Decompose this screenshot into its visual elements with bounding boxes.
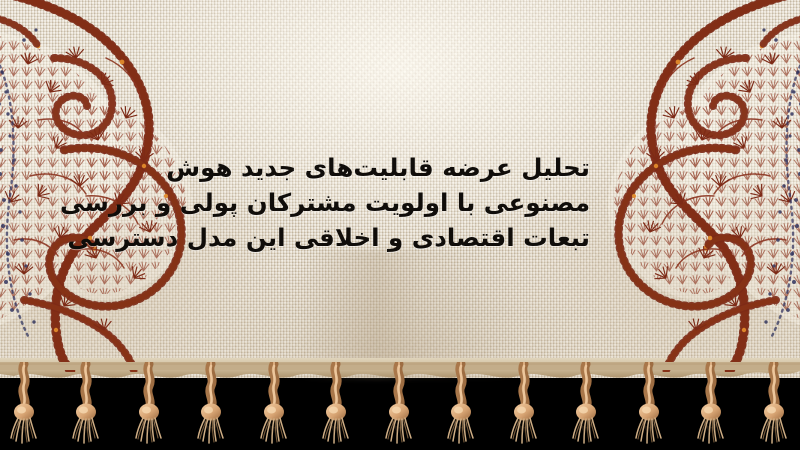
tassel-row [11, 364, 786, 443]
headline-text: تحلیل عرضه قابلیت‌های جدید هوش مصنوعی با… [190, 150, 590, 255]
headline-line-2: مصنوعی با اولویت مشترکان پولی و بررسی [190, 185, 590, 220]
tassel-fringe [0, 362, 800, 450]
headline-line-1: تحلیل عرضه قابلیت‌های جدید هوش [190, 150, 590, 185]
banner-image: تحلیل عرضه قابلیت‌های جدید هوش مصنوعی با… [0, 0, 800, 450]
headline-line-3: تبعات اقتصادی و اخلاقی این مدل دسترسی [190, 220, 590, 255]
